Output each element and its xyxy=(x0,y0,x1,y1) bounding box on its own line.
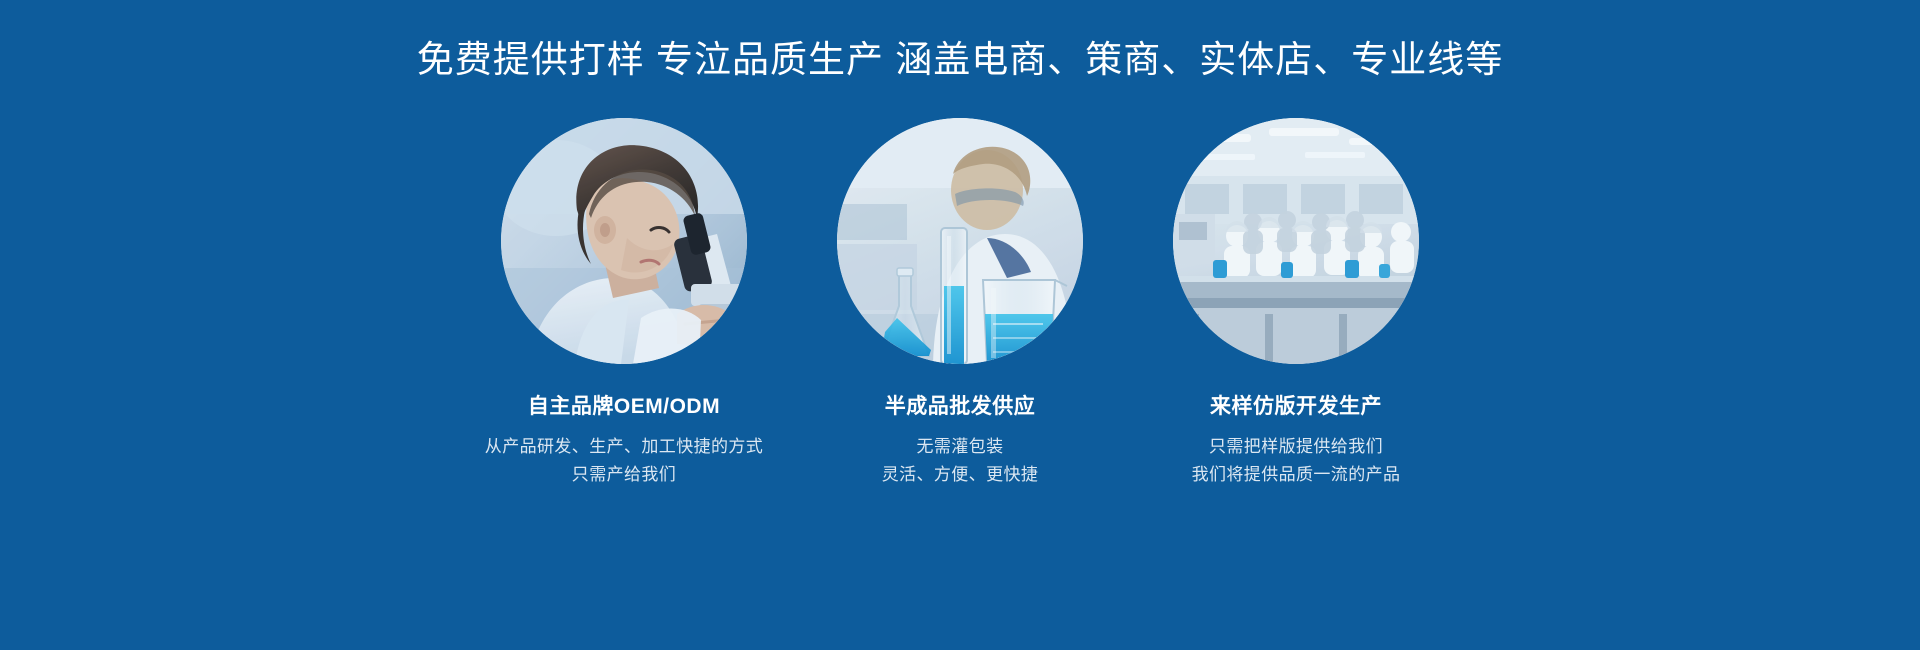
feature-column-sample-copy: 来样仿版开发生产 只需把样版提供给我们 我们将提供品质一流的产品 xyxy=(1121,118,1471,488)
banner-headline: 免费提供打样 专泣品质生产 涵盖电商、策商、实体店、专业线等 xyxy=(417,41,1504,78)
feature-desc-line: 只需把样版提供给我们 xyxy=(1126,433,1466,461)
factory-workers-cleanroom-photo xyxy=(1173,118,1419,364)
feature-title: 半成品批发供应 xyxy=(790,394,1130,419)
feature-column-semi-finished: 半成品批发供应 无需灌包装 灵活、方便、更快捷 xyxy=(785,118,1135,488)
feature-caption: 半成品批发供应 无需灌包装 灵活、方便、更快捷 xyxy=(790,394,1130,488)
feature-caption: 来样仿版开发生产 只需把样版提供给我们 我们将提供品质一流的产品 xyxy=(1126,394,1466,488)
headline-container: 免费提供打样 专泣品质生产 涵盖电商、策商、实体店、专业线等 xyxy=(0,0,1920,118)
feature-column-oem-odm: 自主品牌OEM/ODM 从产品研发、生产、加工快捷的方式 只需产给我们 xyxy=(449,118,799,488)
feature-title: 自主品牌OEM/ODM xyxy=(454,394,794,419)
feature-desc-line: 无需灌包装 xyxy=(790,433,1130,461)
feature-title: 来样仿版开发生产 xyxy=(1126,394,1466,419)
feature-desc-line: 我们将提供品质一流的产品 xyxy=(1126,461,1466,489)
feature-caption: 自主品牌OEM/ODM 从产品研发、生产、加工快捷的方式 只需产给我们 xyxy=(454,394,794,488)
feature-desc-line: 灵活、方便、更快捷 xyxy=(790,461,1130,489)
feature-desc-line: 从产品研发、生产、加工快捷的方式 xyxy=(454,433,794,461)
feature-desc-line: 只需产给我们 xyxy=(454,461,794,489)
scientist-microscope-photo xyxy=(501,118,747,364)
lab-beakers-blue-liquid-photo xyxy=(837,118,1083,364)
promo-banner: 免费提供打样 专泣品质生产 涵盖电商、策商、实体店、专业线等 xyxy=(0,0,1920,650)
feature-columns: 自主品牌OEM/ODM 从产品研发、生产、加工快捷的方式 只需产给我们 xyxy=(0,118,1920,650)
